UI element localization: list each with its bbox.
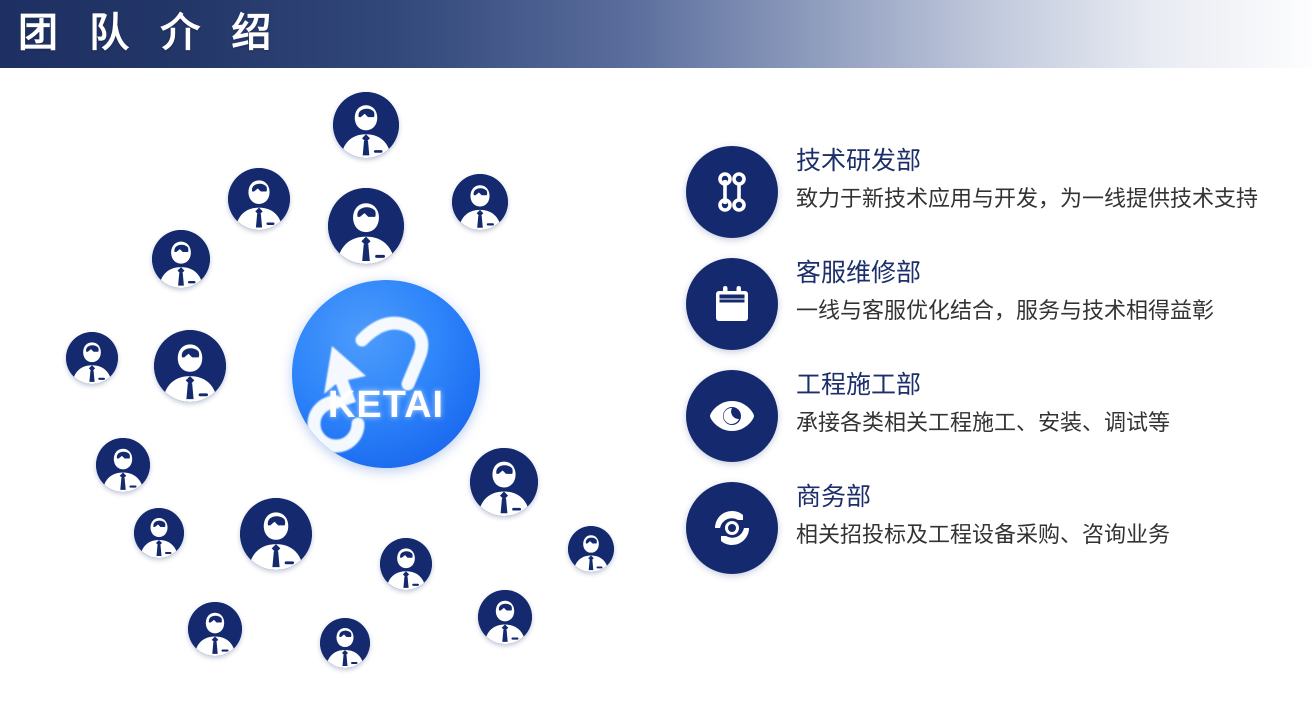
person-avatar-icon — [134, 508, 184, 558]
person-avatar-glyph — [240, 498, 312, 570]
department-body: 工程施工部 承接各类相关工程施工、安装、调试等 — [796, 354, 1170, 440]
department-item-1[interactable]: 客服维修部 一线与客服优化结合，服务与技术相得益彰 — [686, 242, 1306, 354]
page-title: 团 队 介 绍 — [18, 4, 281, 62]
sync-icon — [709, 507, 755, 549]
department-description: 承接各类相关工程施工、安装、调试等 — [796, 406, 1170, 440]
ketai-logo-text: KETAI — [292, 384, 480, 427]
person-avatar-icon — [66, 332, 118, 384]
department-item-3[interactable]: 商务部 相关招投标及工程设备采购、咨询业务 — [686, 466, 1306, 578]
person-avatar-icon — [188, 602, 242, 656]
person-avatar-icon — [154, 330, 226, 402]
person-avatar-glyph — [228, 168, 290, 230]
connector-pins-icon — [710, 170, 754, 214]
title-banner: 团 队 介 绍 — [0, 0, 1312, 68]
connector-pins-icon-wrap — [686, 146, 778, 238]
person-avatar-icon — [152, 230, 210, 288]
department-list: 技术研发部 致力于新技术应用与开发，为一线提供技术支持 客服维修部 一线与客服优… — [686, 130, 1306, 578]
person-avatar-icon — [470, 448, 538, 516]
person-avatar-icon — [320, 618, 370, 668]
calendar-icon — [711, 282, 753, 326]
person-avatar-icon — [328, 188, 404, 264]
person-avatar-icon — [478, 590, 532, 644]
department-item-0[interactable]: 技术研发部 致力于新技术应用与开发，为一线提供技术支持 — [686, 130, 1306, 242]
person-avatar-icon — [333, 92, 399, 158]
eye-icon-wrap — [686, 370, 778, 462]
department-description: 相关招投标及工程设备采购、咨询业务 — [796, 518, 1170, 552]
department-body: 商务部 相关招投标及工程设备采购、咨询业务 — [796, 466, 1170, 552]
person-avatar-glyph — [333, 92, 399, 158]
person-avatar-glyph — [380, 538, 432, 590]
person-avatar-glyph — [328, 188, 404, 264]
department-title: 商务部 — [796, 480, 1170, 514]
department-item-2[interactable]: 工程施工部 承接各类相关工程施工、安装、调试等 — [686, 354, 1306, 466]
department-title: 技术研发部 — [796, 144, 1258, 178]
ketai-logo: KETAI — [292, 280, 480, 468]
department-body: 客服维修部 一线与客服优化结合，服务与技术相得益彰 — [796, 242, 1214, 328]
sync-icon-wrap — [686, 482, 778, 574]
person-avatar-glyph — [66, 332, 118, 384]
person-avatar-icon — [96, 438, 150, 492]
team-avatar-cluster: KETAI — [0, 68, 680, 708]
eye-icon — [708, 399, 756, 433]
person-avatar-glyph — [152, 230, 210, 288]
person-avatar-glyph — [320, 618, 370, 668]
person-avatar-icon — [380, 538, 432, 590]
person-avatar-glyph — [134, 508, 184, 558]
ketai-logo-mark — [292, 280, 480, 468]
person-avatar-glyph — [470, 448, 538, 516]
department-description: 致力于新技术应用与开发，为一线提供技术支持 — [796, 182, 1258, 216]
person-avatar-glyph — [154, 330, 226, 402]
person-avatar-glyph — [452, 174, 508, 230]
department-title: 客服维修部 — [796, 256, 1214, 290]
calendar-icon-wrap — [686, 258, 778, 350]
person-avatar-icon — [452, 174, 508, 230]
person-avatar-glyph — [478, 590, 532, 644]
person-avatar-glyph — [96, 438, 150, 492]
person-avatar-icon — [568, 526, 614, 572]
person-avatar-glyph — [568, 526, 614, 572]
person-avatar-glyph — [188, 602, 242, 656]
department-body: 技术研发部 致力于新技术应用与开发，为一线提供技术支持 — [796, 130, 1258, 216]
person-avatar-icon — [240, 498, 312, 570]
department-title: 工程施工部 — [796, 368, 1170, 402]
person-avatar-icon — [228, 168, 290, 230]
department-description: 一线与客服优化结合，服务与技术相得益彰 — [796, 294, 1214, 328]
